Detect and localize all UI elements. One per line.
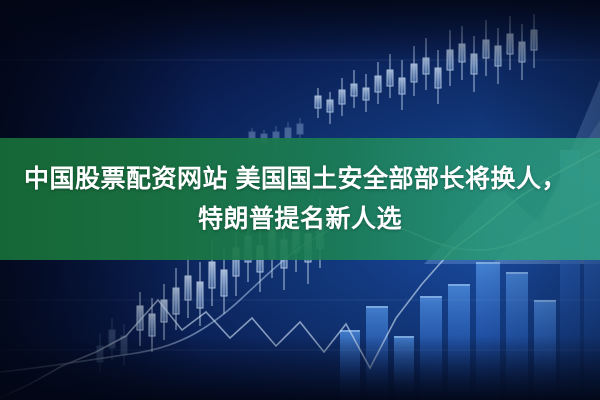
headline-text-block: 中国股票配资网站 美国国土安全部部长将换人， 特朗普提名新人选 [0, 159, 600, 239]
headline-line-1: 中国股票配资网站 美国国土安全部部长将换人， [14, 159, 586, 199]
banner-image: 中国股票配资网站 美国国土安全部部长将换人， 特朗普提名新人选 [0, 0, 600, 400]
headline-band: 中国股票配资网站 美国国土安全部部长将换人， 特朗普提名新人选 [0, 138, 600, 260]
headline-line-2: 特朗普提名新人选 [14, 199, 586, 239]
